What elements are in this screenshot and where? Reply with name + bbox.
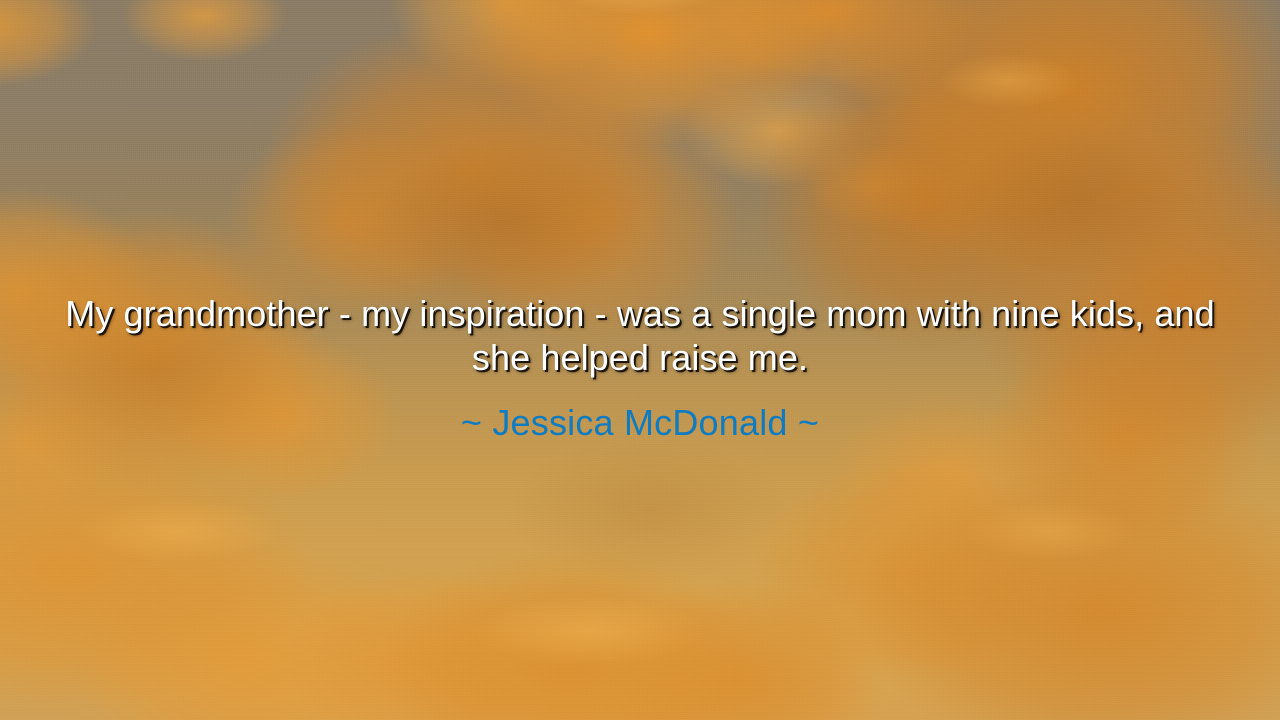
quote-card: My grandmother - my inspiration - was a … xyxy=(0,0,1280,720)
quote-text: My grandmother - my inspiration - was a … xyxy=(34,292,1246,380)
quote-attribution: ~ Jessica McDonald ~ xyxy=(34,402,1246,444)
quote-block: My grandmother - my inspiration - was a … xyxy=(0,292,1280,444)
